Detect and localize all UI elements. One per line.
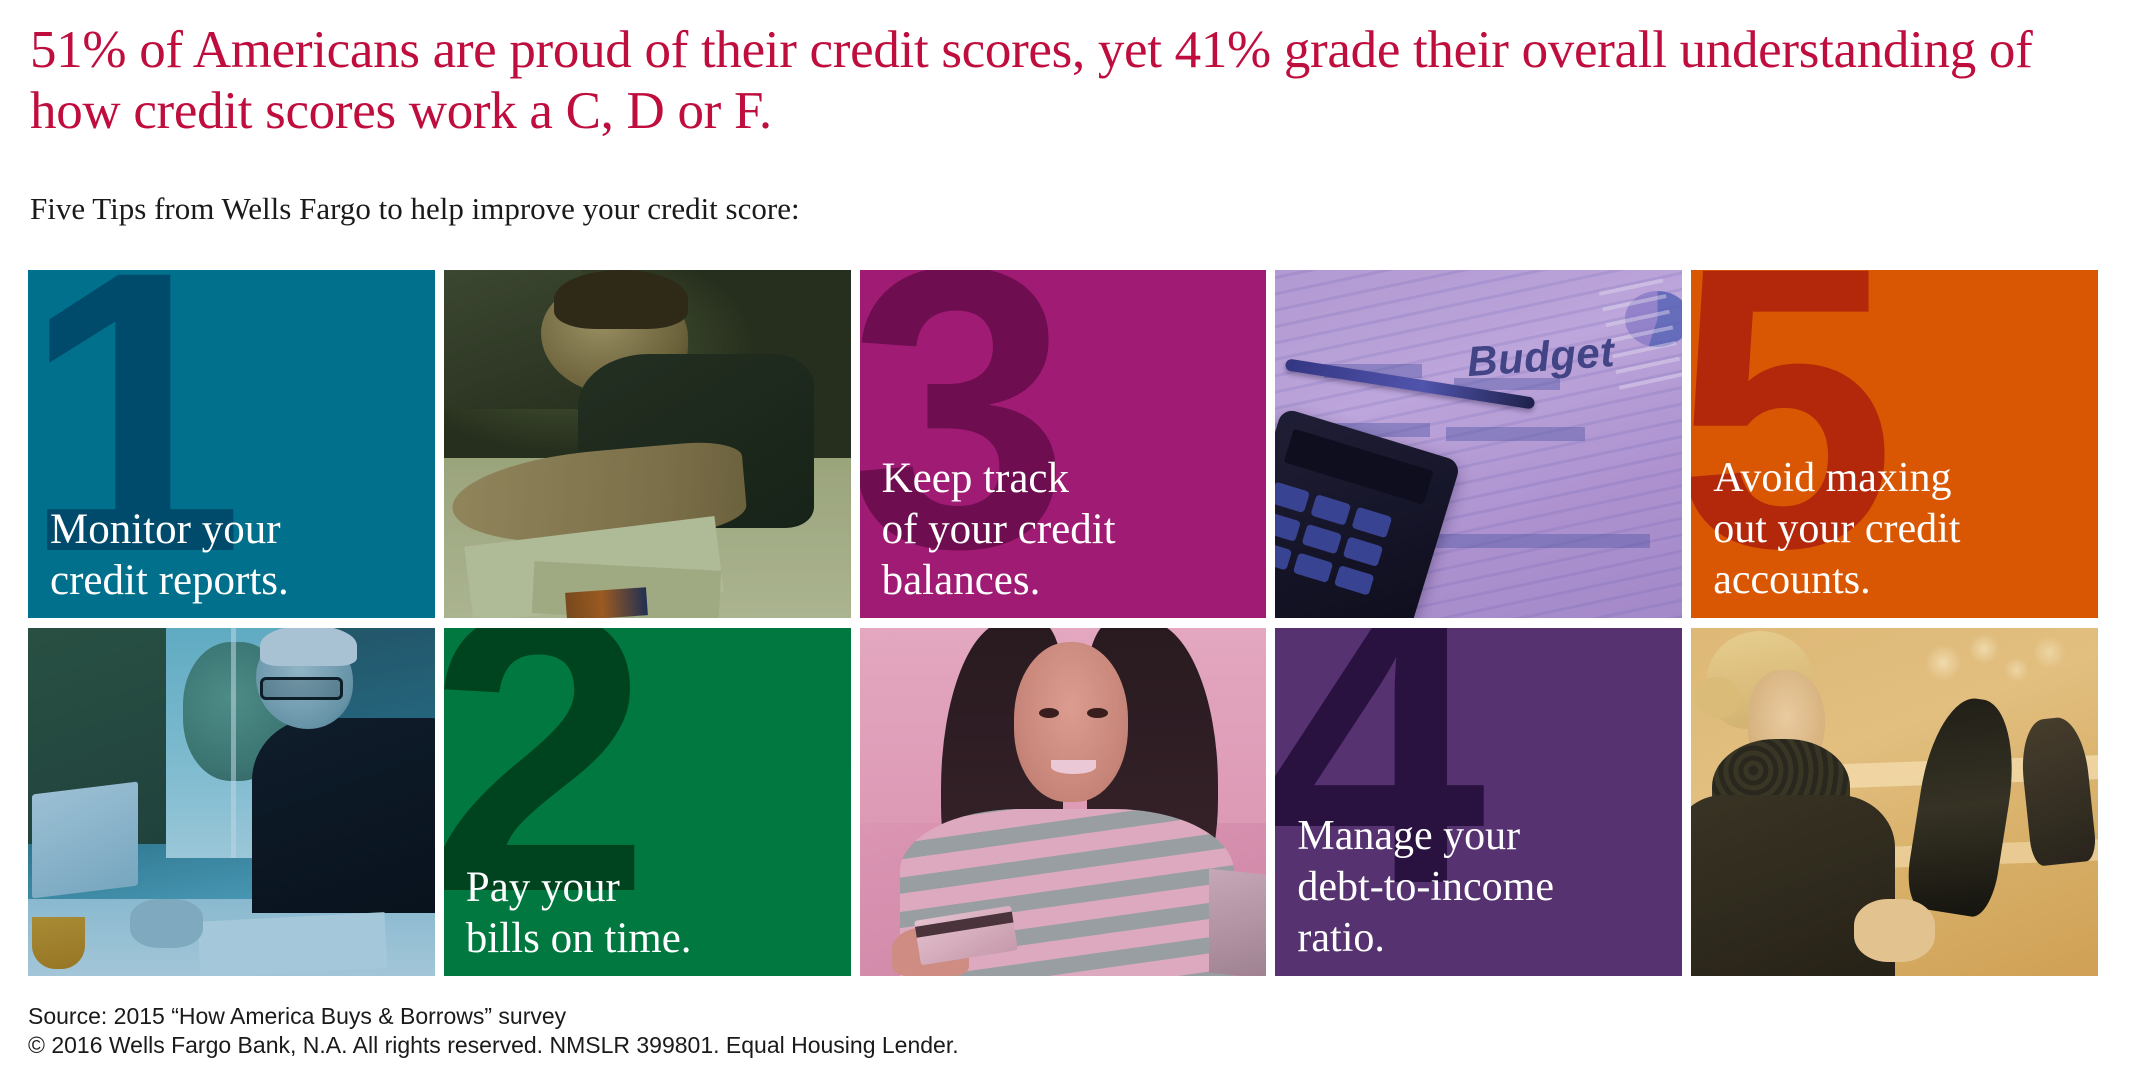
tip-photo-older-man-at-desk[interactable] (28, 628, 435, 976)
tip-tile-1[interactable]: 1 Monitor your credit reports. (28, 270, 435, 618)
tip-photo-woman-shopping-for-shoes[interactable] (1691, 628, 2098, 976)
tile-text-line: of your credit (882, 504, 1257, 555)
tile-text-line: balances. (882, 555, 1257, 606)
tip-photo-man-reviewing-paperwork[interactable] (444, 270, 851, 618)
tile-text-4: Manage your debt-to-income ratio. (1297, 811, 1672, 964)
tile-text-2: Pay your bills on time. (466, 862, 841, 964)
tip-tile-4[interactable]: 4 Manage your debt-to-income ratio. (1275, 628, 1682, 976)
footer: Source: 2015 “How America Buys & Borrows… (28, 1002, 959, 1060)
page-subhead: Five Tips from Wells Fargo to help impro… (30, 190, 800, 228)
photo-man-reviewing-paperwork-on-floor (444, 270, 851, 618)
tile-text-5: Avoid maxing out your credit accounts. (1713, 453, 2088, 606)
tips-grid: 1 Monitor your credit reports. 3 Keep tr… (28, 270, 2098, 976)
footer-source: Source: 2015 “How America Buys & Borrows… (28, 1002, 959, 1031)
tile-text-line: bills on time. (466, 913, 841, 964)
tile-text-3: Keep track of your credit balances. (882, 453, 1257, 606)
page-headline: 51% of Americans are proud of their cred… (30, 20, 2060, 142)
photo-woman-holding-credit-card (860, 628, 1267, 976)
tile-text-1: Monitor your credit reports. (50, 504, 425, 606)
tip-tile-5[interactable]: 5 Avoid maxing out your credit accounts. (1691, 270, 2098, 618)
tip-photo-woman-holding-credit-card[interactable] (860, 628, 1267, 976)
photo-budget-worksheet-with-calculator: Budget (1275, 270, 1682, 618)
tile-text-line: Manage your (1297, 811, 1672, 862)
tile-text-line: Avoid maxing (1713, 453, 2088, 504)
tip-tile-3[interactable]: 3 Keep track of your credit balances. (860, 270, 1267, 618)
footer-copyright: © 2016 Wells Fargo Bank, N.A. All rights… (28, 1031, 959, 1060)
tile-text-line: ratio. (1297, 913, 1672, 964)
tip-tile-2[interactable]: 2 Pay your bills on time. (444, 628, 851, 976)
tile-text-line: Monitor your (50, 504, 425, 555)
tile-text-line: Pay your (466, 862, 841, 913)
tile-text-line: accounts. (1713, 555, 2088, 606)
tile-text-line: debt-to-income (1297, 862, 1672, 913)
tip-photo-budget-worksheet[interactable]: Budget (1275, 270, 1682, 618)
tile-text-line: Keep track (882, 453, 1257, 504)
photo-woman-shopping-for-shoes (1691, 628, 2098, 976)
tile-text-line: out your credit (1713, 504, 2088, 555)
photo-older-man-at-desk-with-laptop (28, 628, 435, 976)
tile-text-line: credit reports. (50, 555, 425, 606)
